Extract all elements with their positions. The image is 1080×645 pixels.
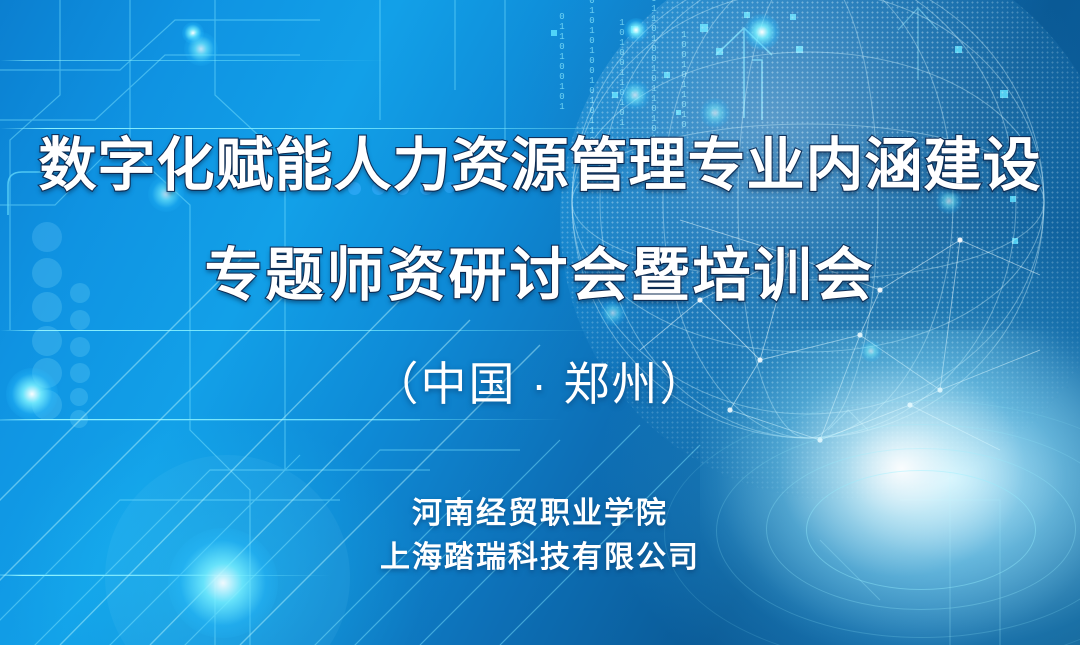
banner-title-line-2: 专题师资研讨会暨培训会 [0,228,1080,312]
banner-title-line-1: 数字化赋能人力资源管理专业内涵建设 [0,118,1080,202]
conference-banner: 010101001010110 10100110101 011010010110… [0,0,1080,645]
organizer-name: 上海踏瑞科技有限公司 [0,536,1080,580]
organizer-name: 河南经贸职业学院 [0,492,1080,536]
organizer-list: 河南经贸职业学院 上海踏瑞科技有限公司 [0,492,1080,580]
banner-location: （中国 · 郑州） [0,348,1080,414]
banner-content: 数字化赋能人力资源管理专业内涵建设 专题师资研讨会暨培训会 （中国 · 郑州） … [0,0,1080,645]
